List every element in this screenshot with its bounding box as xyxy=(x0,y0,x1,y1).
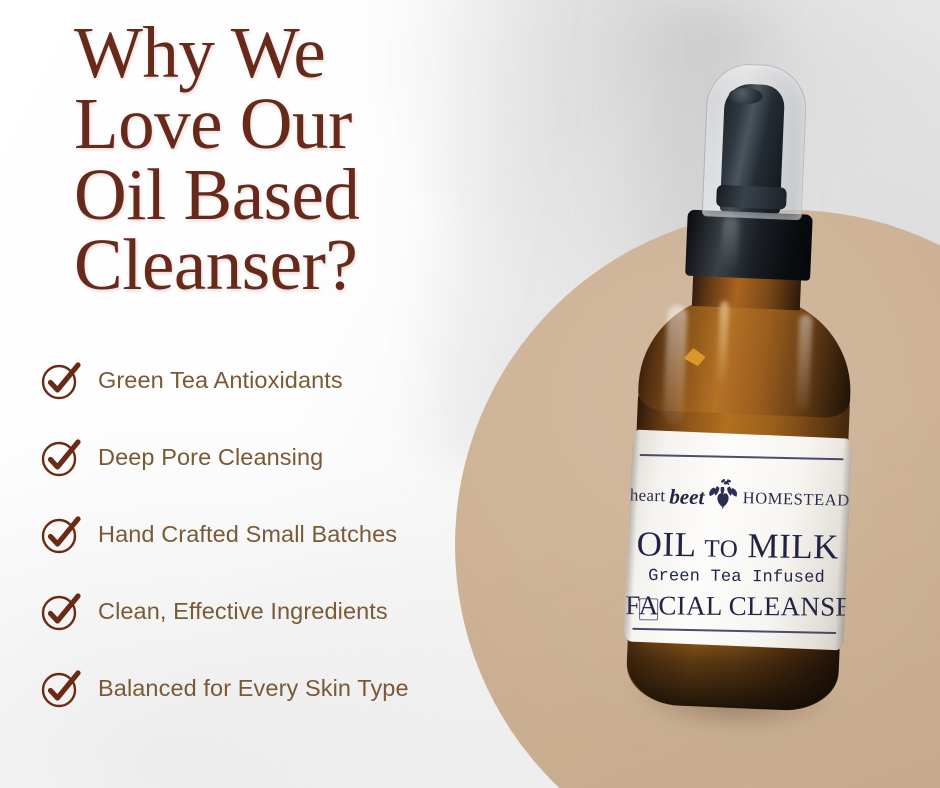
beet-with-bee-logo xyxy=(706,477,741,518)
headline-line-4: Cleanser? xyxy=(74,230,494,301)
brand-lockup: heart beet xyxy=(629,475,850,520)
headline-line-3: Oil Based xyxy=(74,160,494,231)
product-bottle-image: heart beet xyxy=(607,57,884,727)
list-item-label: Hand Crafted Small Batches xyxy=(98,521,397,548)
bottle-collar xyxy=(685,210,813,281)
pump-collar-ring xyxy=(716,185,787,210)
product-name-part-2: MILK xyxy=(747,526,839,566)
page-title: Why We Love Our Oil Based Cleanser? xyxy=(74,18,494,301)
label-top-rule xyxy=(640,454,844,460)
headline-line-2: Love Our xyxy=(74,89,494,160)
label-seal-mark xyxy=(639,598,658,620)
check-circle-icon xyxy=(38,511,84,557)
brand-word-beet: beet xyxy=(669,484,705,510)
list-item: Hand Crafted Small Batches xyxy=(38,506,468,562)
list-item: Clean, Effective Ingredients xyxy=(38,583,468,639)
label-bottom-rule xyxy=(632,628,836,634)
check-circle-icon xyxy=(38,434,84,480)
check-circle-icon xyxy=(38,357,84,403)
collar-highlight xyxy=(721,217,739,270)
product-name-connector: TO xyxy=(704,535,738,563)
list-item-label: Deep Pore Cleansing xyxy=(98,444,323,471)
product-name: OIL TO MILK xyxy=(628,524,849,567)
benefits-list: Green Tea Antioxidants Deep Pore Cleansi… xyxy=(38,352,468,716)
product-descriptor: Green Tea Infused xyxy=(626,567,846,588)
product-name-part-1: OIL xyxy=(636,524,695,564)
list-item-label: Balanced for Every Skin Type xyxy=(98,675,409,702)
list-item: Balanced for Every Skin Type xyxy=(38,660,468,716)
product-type: FACIAL CLEANSER xyxy=(625,590,845,623)
list-item: Deep Pore Cleansing xyxy=(38,429,468,485)
list-item: Green Tea Antioxidants xyxy=(38,352,468,408)
headline-line-1: Why We xyxy=(74,18,494,89)
promo-poster: Why We Love Our Oil Based Cleanser? Gree… xyxy=(0,0,940,788)
brand-word-homestead: HOMESTEAD xyxy=(742,488,850,511)
product-label: heart beet xyxy=(624,429,853,650)
check-circle-icon xyxy=(38,588,84,634)
list-item-label: Green Tea Antioxidants xyxy=(98,367,343,394)
check-circle-icon xyxy=(38,665,84,711)
list-item-label: Clean, Effective Ingredients xyxy=(98,598,388,625)
